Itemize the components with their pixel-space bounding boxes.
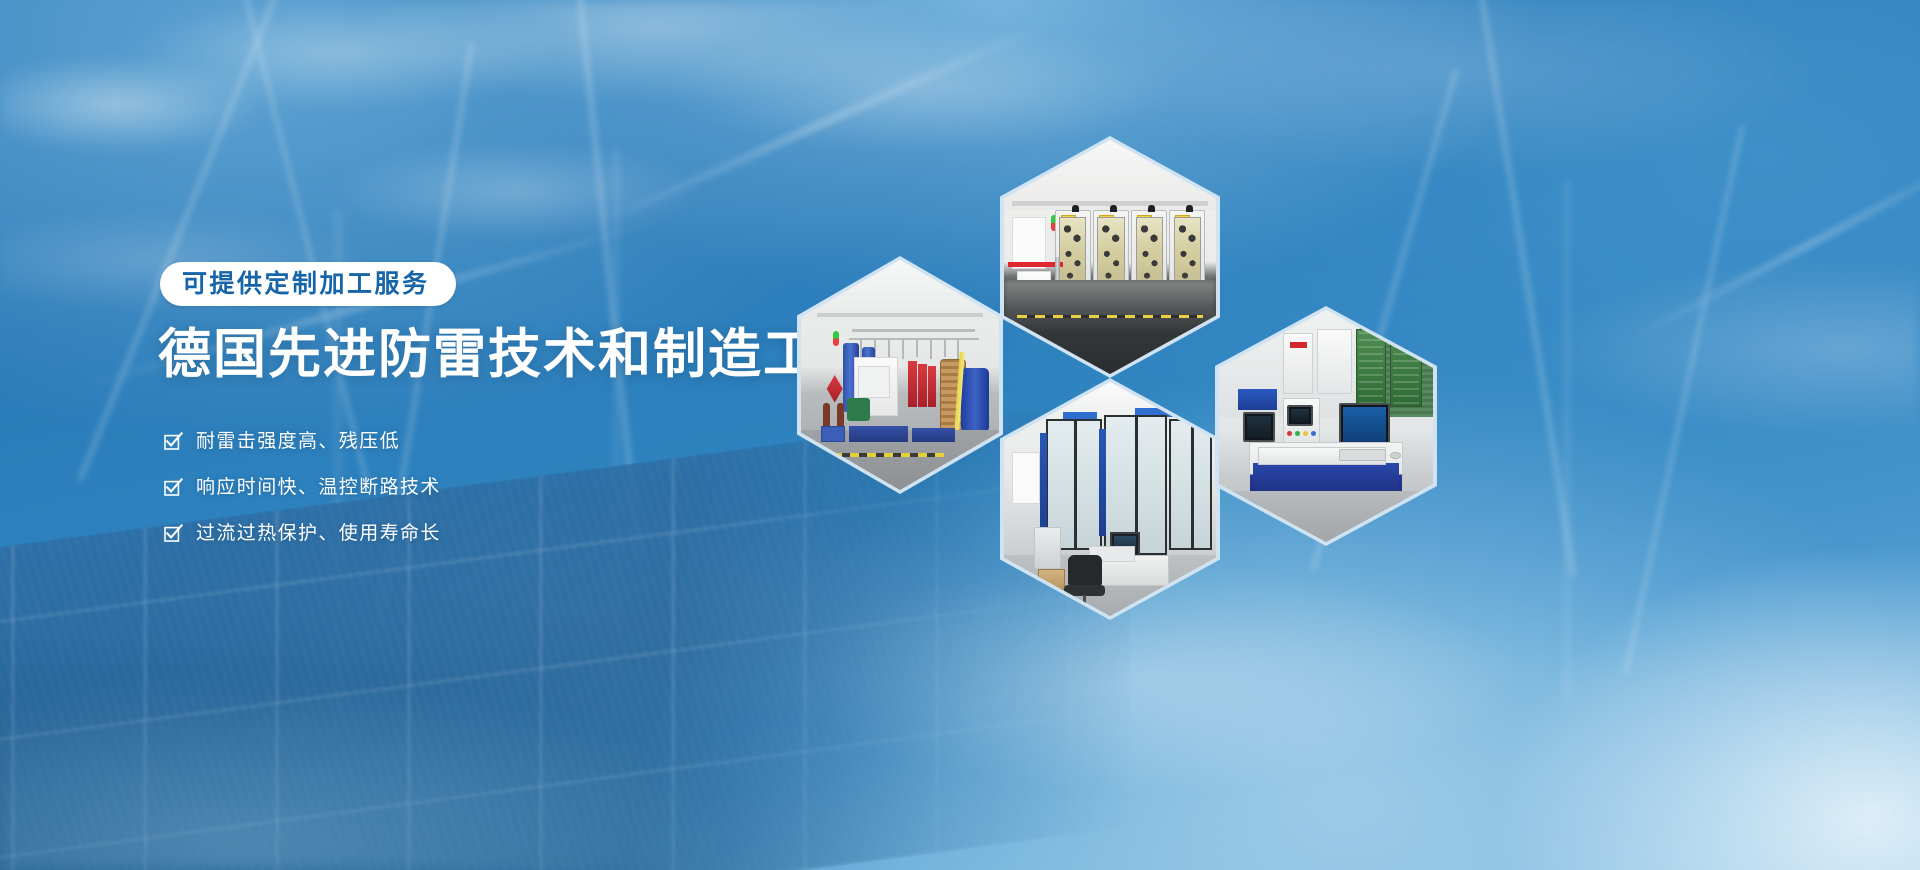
lab-photo-impulse-test	[801, 260, 999, 490]
hex-image-clip	[801, 260, 999, 490]
hex-control-console-room[interactable]	[1215, 306, 1437, 546]
lab-photo-glass-rooms	[1004, 382, 1216, 616]
hexagon-gallery	[0, 0, 1920, 870]
hex-environmental-test-cabinets[interactable]	[1000, 136, 1220, 378]
lab-photo-test-cabinets	[1004, 140, 1216, 374]
hex-impulse-voltage-test-lab[interactable]	[797, 256, 1003, 494]
hero-banner: 可提供定制加工服务 德国先进防雷技术和制造工艺 耐雷击强度高、残压低	[0, 0, 1920, 870]
hex-image-clip	[1219, 310, 1433, 542]
hex-image-clip	[1004, 382, 1216, 616]
hex-image-clip	[1004, 140, 1216, 374]
lab-photo-control-console	[1219, 310, 1433, 542]
hex-glass-partition-laboratory[interactable]	[1000, 378, 1220, 620]
